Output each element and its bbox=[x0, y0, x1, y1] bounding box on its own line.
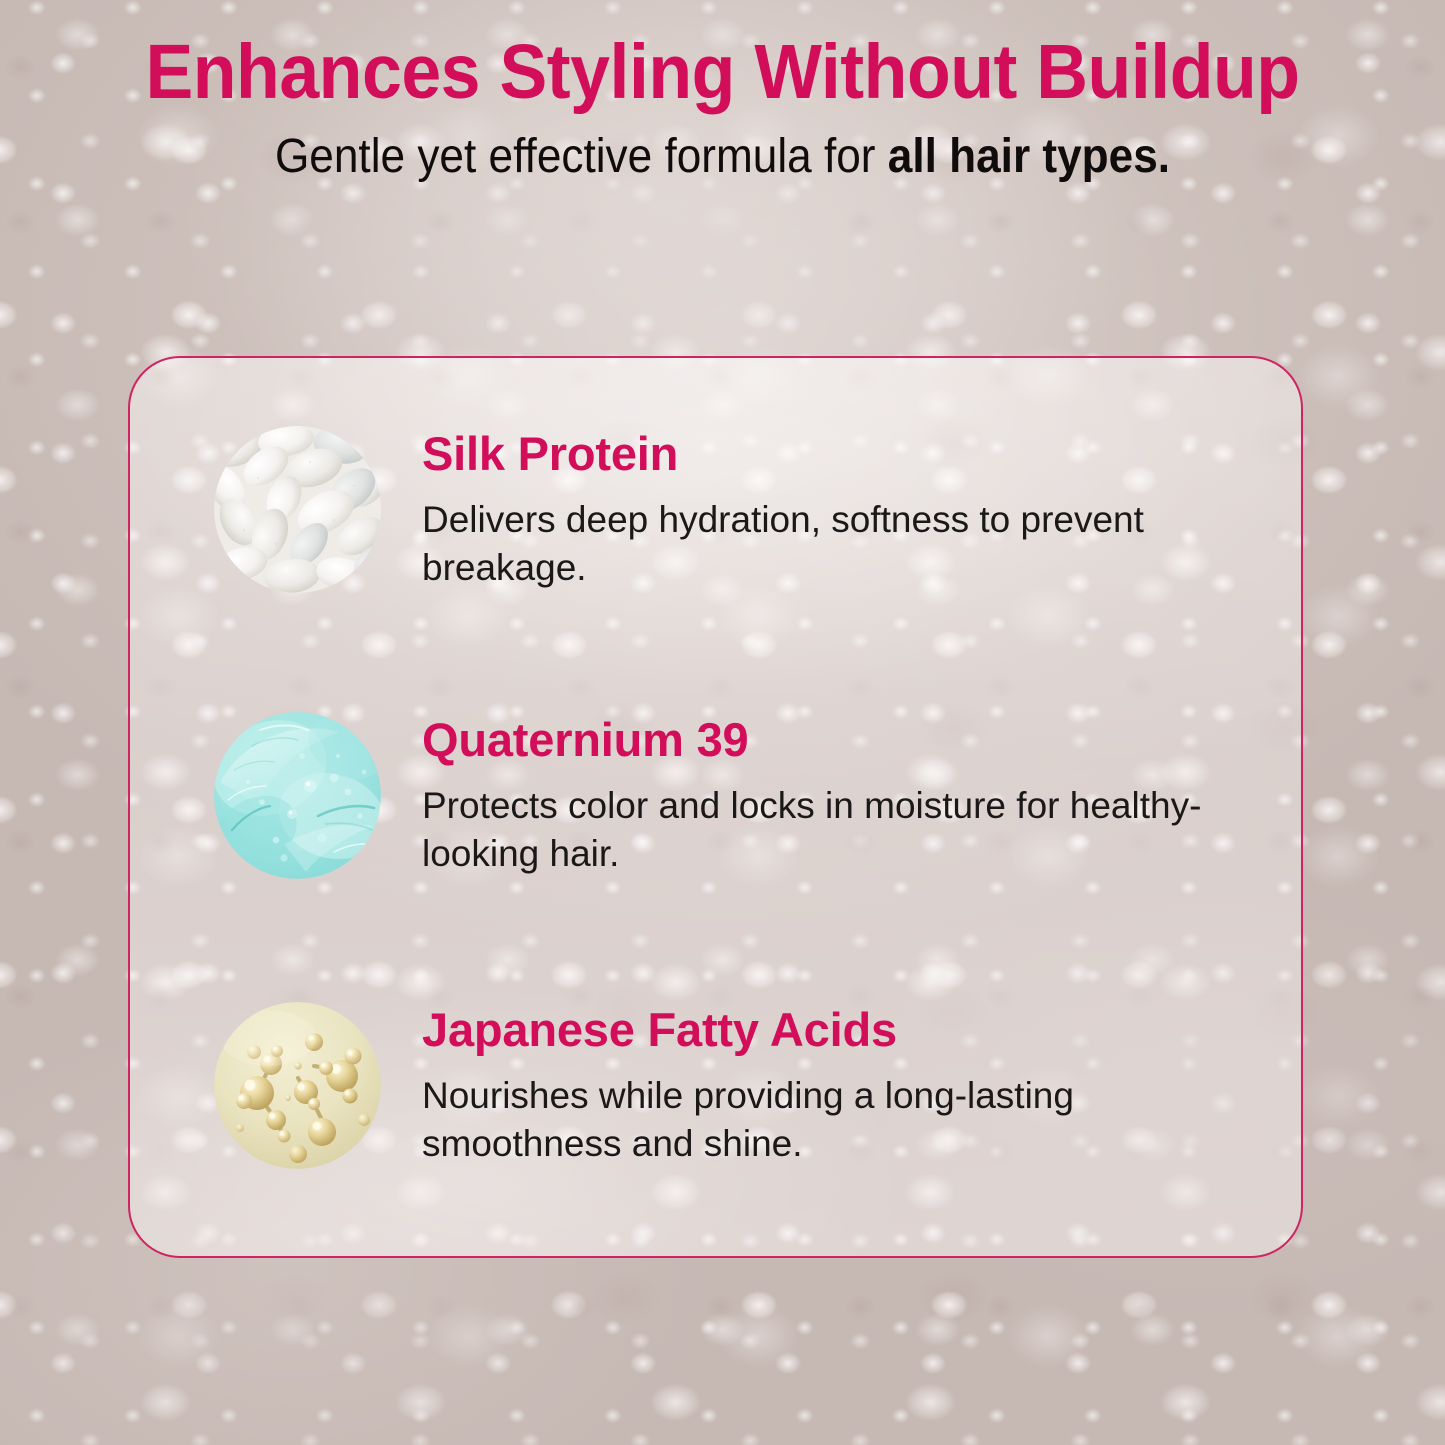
ingredient-text: Silk Protein Delivers deep hydration, so… bbox=[381, 426, 1274, 591]
silk-cocoons-icon bbox=[214, 426, 381, 593]
gold-molecule-icon bbox=[214, 1002, 381, 1169]
list-item: Japanese Fatty Acids Nourishes while pro… bbox=[214, 1002, 1274, 1182]
page-title: Enhances Styling Without Buildup bbox=[51, 0, 1395, 111]
header: Enhances Styling Without Buildup Gentle … bbox=[0, 0, 1445, 181]
ingredient-title: Silk Protein bbox=[422, 430, 1274, 477]
ingredient-description: Delivers deep hydration, softness to pre… bbox=[422, 477, 1274, 591]
ingredients-card: Silk Protein Delivers deep hydration, so… bbox=[128, 356, 1303, 1258]
list-item: Silk Protein Delivers deep hydration, so… bbox=[214, 426, 1274, 606]
infographic-stage: Enhances Styling Without Buildup Gentle … bbox=[0, 0, 1445, 1445]
ingredient-text: Quaternium 39 Protects color and locks i… bbox=[381, 712, 1274, 877]
ingredient-description: Nourishes while providing a long-lasting… bbox=[422, 1053, 1232, 1167]
page-subtitle: Gentle yet effective formula for all hai… bbox=[58, 111, 1387, 181]
ingredient-text: Japanese Fatty Acids Nourishes while pro… bbox=[381, 1002, 1274, 1167]
aqua-gel-icon bbox=[214, 712, 381, 879]
ingredient-title: Quaternium 39 bbox=[422, 716, 1274, 763]
list-item: Quaternium 39 Protects color and locks i… bbox=[214, 712, 1274, 892]
ingredient-list: Silk Protein Delivers deep hydration, so… bbox=[130, 358, 1301, 1256]
subtitle-bold-text: all hair types. bbox=[888, 130, 1170, 183]
ingredient-description: Protects color and locks in moisture for… bbox=[422, 763, 1222, 877]
ingredient-title: Japanese Fatty Acids bbox=[422, 1006, 1274, 1053]
subtitle-normal-text: Gentle yet effective formula for bbox=[275, 130, 888, 183]
